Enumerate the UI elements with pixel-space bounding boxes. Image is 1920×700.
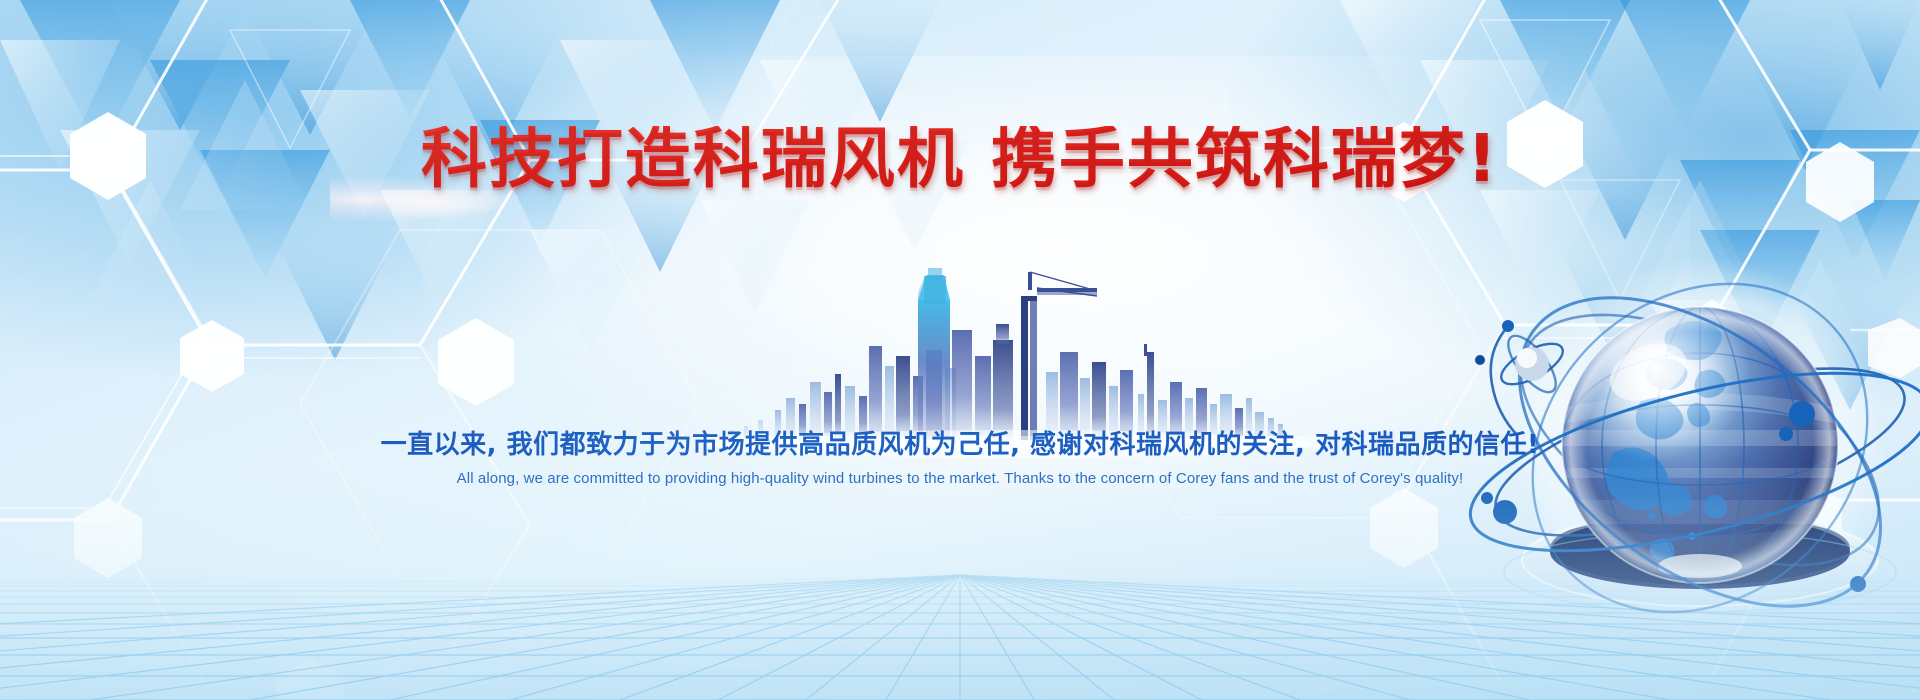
subtitle-english: All along, we are committed to providing… — [0, 470, 1920, 487]
headline-text: 科技打造科瑞风机携手共筑科瑞梦! — [421, 126, 1499, 192]
promo-banner: 科技打造科瑞风机携手共筑科瑞梦! 一直以来, 我们都致力于为市场提供高品质风机为… — [0, 0, 1920, 700]
triangle-pattern-layer — [0, 0, 1920, 700]
cityscape-graphic — [0, 0, 1920, 700]
headline-block: 科技打造科瑞风机携手共筑科瑞梦! — [0, 126, 1920, 192]
perspective-floor-grid — [0, 0, 1920, 700]
globe-graphic — [0, 0, 1920, 700]
bottom-fade — [0, 462, 1920, 700]
globe-base-disc — [1504, 511, 1896, 612]
hex-connector-lines — [0, 0, 1920, 700]
background-glow-top-right — [1229, 0, 1920, 406]
hex-outlines — [300, 0, 1480, 578]
headline-part-1: 科技打造科瑞风机 — [421, 120, 965, 197]
globe-satellite-atom — [1491, 320, 1569, 436]
subtitle-chinese: 一直以来, 我们都致力于为市场提供高品质风机为己任, 感谢对科瑞风机的关注, 对… — [0, 424, 1920, 461]
hexagon-mesh-layer — [0, 0, 1920, 700]
headline-part-2: 携手共筑科瑞梦! — [991, 120, 1499, 197]
